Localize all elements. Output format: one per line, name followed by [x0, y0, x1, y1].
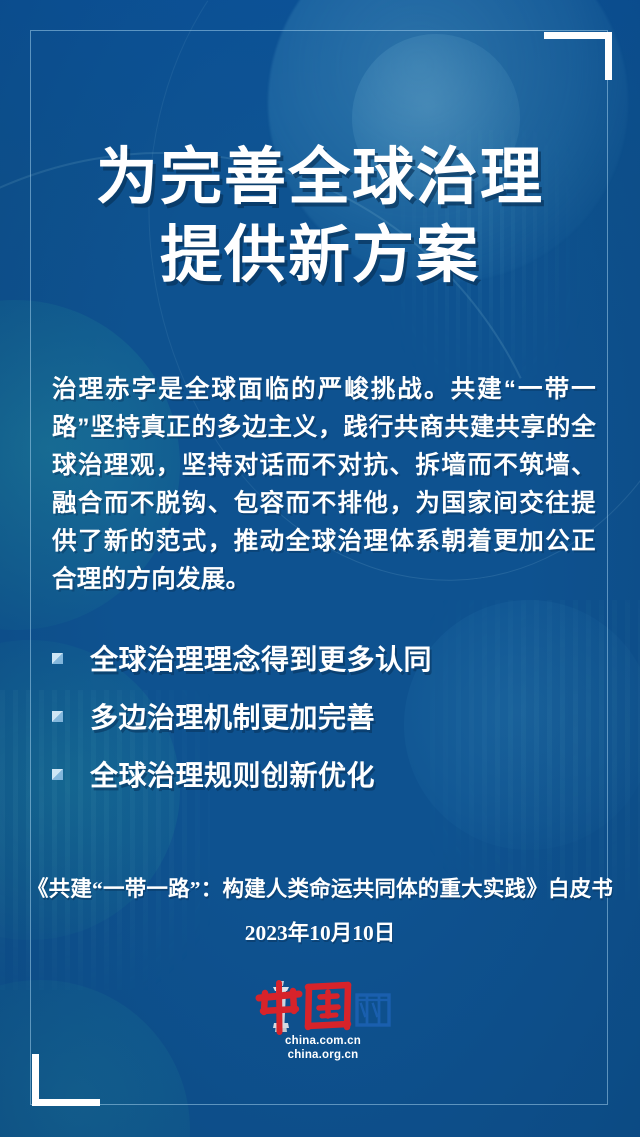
page-title-line-2: 提供新方案 — [0, 217, 640, 295]
list-item: 多边治理机制更加完善 — [52, 687, 592, 745]
corner-bracket-bottom-left-icon — [32, 1048, 100, 1106]
list-item-label: 多边治理机制更加完善 — [90, 696, 375, 736]
page-title-line-1: 为完善全球治理 — [0, 139, 640, 217]
square-bullet-icon — [52, 653, 63, 664]
list-item: 全球治理理念得到更多认同 — [52, 629, 592, 687]
square-bullet-icon — [52, 711, 63, 722]
publication-date: 2023年10月10日 — [0, 918, 640, 948]
logo-url-primary: china.com.cn — [253, 1034, 393, 1048]
square-bullet-icon — [52, 769, 63, 780]
list-item: 全球治理规则创新优化 — [52, 745, 592, 803]
page-title: 为完善全球治理 提供新方案 — [0, 139, 640, 295]
logo-url-list: china.com.cn china.org.cn — [253, 1034, 393, 1062]
body-paragraph: 治理赤字是全球面临的严峻挑战。共建“一带一路”坚持真正的多边主义，践行共商共建共… — [52, 371, 596, 599]
source-document-title: 《共建“一带一路”：构建人类命运共同体的重大实践》白皮书 — [0, 874, 640, 904]
china-net-wordmark-icon — [253, 978, 393, 1038]
list-item-label: 全球治理规则创新优化 — [90, 754, 375, 794]
key-points-list: 全球治理理念得到更多认同 多边治理机制更加完善 全球治理规则创新优化 — [52, 629, 592, 803]
footer-attribution: 《共建“一带一路”：构建人类命运共同体的重大实践》白皮书 2023年10月10日 — [0, 874, 640, 948]
poster-canvas: 为完善全球治理 提供新方案 治理赤字是全球面临的严峻挑战。共建“一带一路”坚持真… — [0, 0, 640, 1137]
logo-url-secondary: china.org.cn — [253, 1048, 393, 1062]
corner-bracket-top-right-icon — [544, 32, 612, 90]
list-item-label: 全球治理理念得到更多认同 — [90, 638, 432, 678]
china-net-logo: china.com.cn china.org.cn — [253, 978, 393, 1064]
